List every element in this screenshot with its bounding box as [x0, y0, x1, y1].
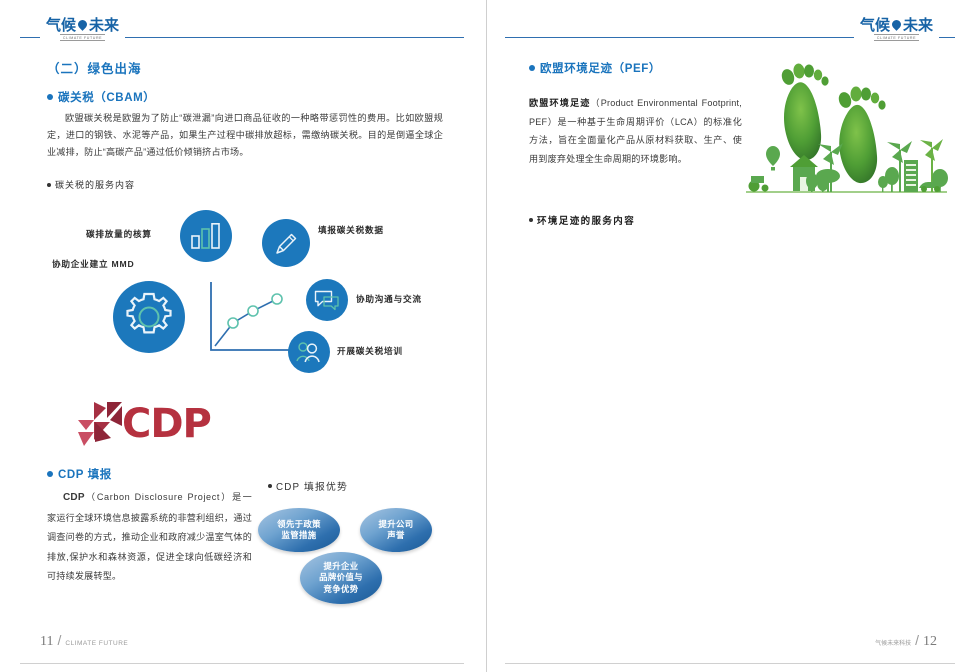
service-icon-chat	[306, 279, 348, 321]
cbam-services-label-text: 碳关税的服务内容	[55, 178, 135, 191]
brand-logo-wordmark: 气候 未来	[860, 18, 933, 33]
brand-logo-text-right: 未来	[89, 18, 119, 33]
pef-services-label-text: 环境足迹的服务内容	[537, 213, 635, 227]
pef-heading: 欧盟环境足迹（PEF）	[529, 60, 661, 76]
cdp-paragraph-bold: CDP	[63, 492, 85, 503]
bullet-small-icon	[47, 183, 51, 187]
pef-paragraph-bold: 欧盟环境足迹	[529, 98, 591, 108]
service-caption-4: 开展碳关税培训	[337, 345, 403, 357]
cdp-advantage-bubble-2: 提升企业 品牌价值与 竞争优势	[300, 552, 382, 604]
cbam-paragraph: 欧盟碳关税是欧盟为了防止“碳泄漏”向进口商品征收的一种略带惩罚性的费用。比如欧盟…	[47, 110, 443, 160]
footer-slash: /	[57, 632, 61, 648]
pencil-icon	[273, 230, 300, 257]
service-icon-bar-chart	[180, 210, 232, 262]
cdp-advantages-label: CDP 填报优势	[268, 479, 348, 493]
brand-logo-subtitle: CLIMATE FUTURE	[60, 34, 105, 41]
cdp-paragraph-paren: （Carbon Disclosure Project）	[85, 492, 232, 502]
left-page-footer: 11 / CLIMATE FUTURE	[40, 632, 128, 650]
balloon-icon	[77, 20, 88, 31]
footer-slash: /	[915, 632, 919, 648]
cdp-advantages-label-text: CDP 填报优势	[276, 479, 348, 493]
brand-logo: 气候 未来 CLIMATE FUTURE	[854, 18, 939, 41]
footer-rule	[20, 663, 464, 664]
service-caption-0: 碳排放量的核算	[86, 228, 152, 240]
cdp-paragraph: CDP（Carbon Disclosure Project）是一家运行全球环境信…	[47, 487, 252, 587]
pef-paragraph: 欧盟环境足迹（Product Environmental Footprint, …	[529, 94, 742, 169]
book-spread: 气候 未来 CLIMATE FUTURE （二）绿色出海 碳关税（CBAM） 欧…	[0, 0, 975, 672]
brand-logo: 气候 未来 CLIMATE FUTURE	[40, 18, 125, 41]
people-icon	[295, 341, 323, 363]
left-page: 气候 未来 CLIMATE FUTURE （二）绿色出海 碳关税（CBAM） 欧…	[0, 0, 487, 672]
bar-chart-icon	[191, 223, 221, 249]
service-icon-pencil	[262, 219, 310, 267]
left-footer-brand: CLIMATE FUTURE	[65, 640, 128, 647]
chat-bubbles-icon	[314, 289, 340, 311]
service-caption-2: 协助企业建立 MMD	[52, 258, 134, 270]
cbam-heading: 碳关税（CBAM）	[47, 89, 155, 105]
service-caption-1: 填报碳关税数据	[318, 224, 384, 236]
cdp-logo-text: CDP	[122, 404, 211, 444]
cdp-heading-label: CDP 填报	[58, 466, 112, 482]
bullet-dot-icon	[529, 65, 535, 71]
balloon-icon	[891, 20, 902, 31]
bullet-dot-icon	[47, 471, 53, 477]
cbam-heading-label: 碳关税（CBAM）	[58, 89, 155, 105]
right-page-number: 12	[923, 634, 937, 650]
brand-logo-text-left: 气候	[860, 18, 890, 33]
cdp-advantage-bubble-0: 领先于政策 监管措施	[258, 508, 340, 552]
brand-logo-text-right: 未来	[903, 18, 933, 33]
cdp-arrow-mark-icon	[74, 398, 126, 450]
bullet-dot-icon	[47, 94, 53, 100]
pef-services-label: 环境足迹的服务内容	[529, 213, 635, 227]
left-page-number: 11	[40, 634, 53, 650]
line-chart-icon	[207, 280, 297, 358]
cdp-paragraph-rest: 是一家运行全球环境信息披露系统的非营利组织，通过调查问卷的方式，推动企业和政府减…	[47, 492, 252, 581]
service-icon-people	[288, 331, 330, 373]
cbam-services-label: 碳关税的服务内容	[47, 178, 135, 191]
cdp-heading: CDP 填报	[47, 466, 112, 482]
brand-logo-text-left: 气候	[46, 18, 76, 33]
bullet-small-icon	[529, 218, 533, 222]
pef-heading-label: 欧盟环境足迹（PEF）	[540, 60, 661, 76]
footer-rule	[505, 663, 955, 664]
cdp-advantage-bubble-1: 提升公司 声誉	[360, 508, 432, 552]
green-footprints-eco-city-illustration	[744, 52, 949, 202]
service-caption-3: 协助沟通与交流	[356, 293, 422, 305]
right-page: 气候 未来 CLIMATE FUTURE 欧盟环境足迹（PEF） 欧盟环境足迹（…	[487, 0, 975, 672]
cdp-logo: CDP	[74, 398, 211, 450]
gear-icon	[119, 287, 179, 347]
right-footer-brand: 气候未来科技	[875, 638, 911, 647]
section-heading: （二）绿色出海	[47, 58, 142, 77]
right-page-footer: 气候未来科技 / 12	[875, 632, 937, 650]
brand-logo-subtitle: CLIMATE FUTURE	[874, 34, 919, 41]
bullet-small-icon	[268, 484, 272, 488]
brand-logo-wordmark: 气候 未来	[46, 18, 119, 33]
service-icon-gear	[113, 281, 185, 353]
